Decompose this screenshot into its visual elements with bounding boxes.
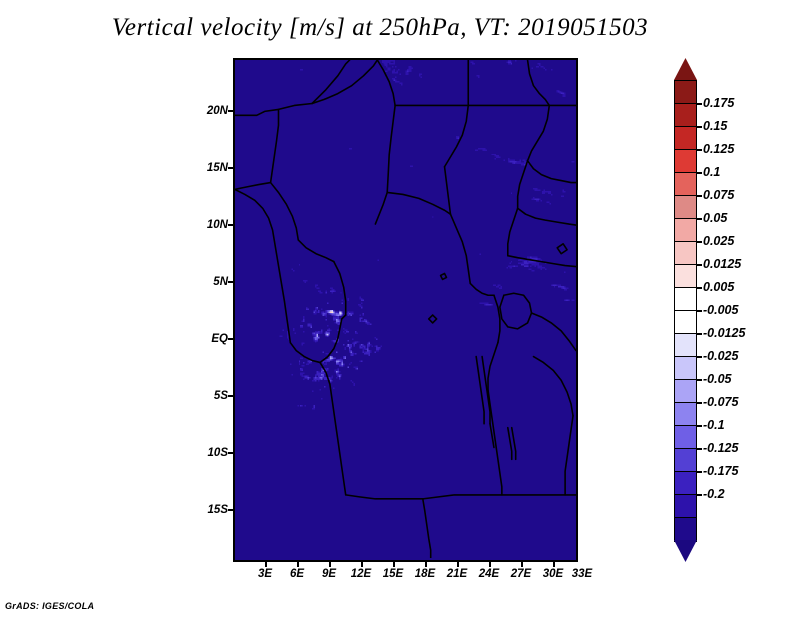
colorbar-label: -0.0125: [703, 326, 745, 340]
x-tick-mark: [361, 562, 363, 567]
colorbar-swatch: [674, 80, 697, 105]
y-tick-label: 5S: [198, 390, 228, 402]
x-tick-mark: [329, 562, 331, 567]
credit-label: GrADS: IGES/COLA: [5, 601, 94, 611]
x-tick-mark: [393, 562, 395, 567]
y-tick-label: 15N: [198, 162, 228, 174]
colorbar-tick: [697, 149, 702, 151]
y-tick-label: 10S: [198, 447, 228, 459]
colorbar-tick: [697, 333, 702, 335]
colorbar-swatch: [674, 517, 697, 542]
colorbar-swatch: [674, 425, 697, 450]
colorbar-swatch: [674, 218, 697, 243]
x-tick-mark: [297, 562, 299, 567]
colorbar-swatch: [674, 356, 697, 381]
colorbar-cap-top: [674, 58, 697, 80]
colorbar-tick: [697, 402, 702, 404]
x-tick-mark: [457, 562, 459, 567]
colorbar-label: 0.0125: [703, 257, 741, 271]
colorbar-label: -0.1: [703, 418, 725, 432]
colorbar-label: -0.175: [703, 464, 738, 478]
x-tick-label: 3E: [252, 568, 278, 580]
colorbar-tick: [697, 356, 702, 358]
colorbar-cap-bottom: [674, 540, 697, 562]
colorbar-swatch: [674, 149, 697, 174]
colorbar-label: 0.1: [703, 165, 720, 179]
y-tick-label: 5N: [198, 276, 228, 288]
colorbar-tick: [697, 425, 702, 427]
colorbar-tick: [697, 103, 702, 105]
x-tick-label: 21E: [441, 568, 473, 580]
colorbar-swatch: [674, 103, 697, 128]
colorbar-swatch: [674, 494, 697, 519]
y-tick-mark: [228, 167, 233, 169]
x-tick-label: 9E: [316, 568, 342, 580]
colorbar-label: 0.175: [703, 96, 734, 110]
colorbar-swatch: [674, 471, 697, 496]
x-tick-label: 27E: [505, 568, 537, 580]
colorbar-tick: [697, 494, 702, 496]
x-tick-mark: [425, 562, 427, 567]
x-tick-label: 15E: [377, 568, 409, 580]
colorbar-swatch: [674, 172, 697, 197]
colorbar-tick: [697, 310, 702, 312]
map-plot-area: [233, 58, 578, 562]
colorbar-label: -0.05: [703, 372, 732, 386]
colorbar-label: 0.075: [703, 188, 734, 202]
y-tick-mark: [228, 281, 233, 283]
colorbar-tick: [697, 241, 702, 243]
colorbar: 0.1750.150.1250.10.0750.050.0250.01250.0…: [674, 58, 794, 563]
colorbar-label: -0.2: [703, 487, 725, 501]
x-tick-mark: [265, 562, 267, 567]
country-borders-overlay: [235, 60, 576, 558]
colorbar-swatch: [674, 402, 697, 427]
colorbar-tick: [697, 448, 702, 450]
x-tick-mark: [553, 562, 555, 567]
colorbar-label: -0.025: [703, 349, 738, 363]
y-tick-mark: [228, 110, 233, 112]
colorbar-label: 0.125: [703, 142, 734, 156]
colorbar-swatch: [674, 333, 697, 358]
colorbar-tick: [697, 218, 702, 220]
y-tick-label: 15S: [198, 504, 228, 516]
x-tick-mark: [521, 562, 523, 567]
y-tick-mark: [228, 338, 233, 340]
y-tick-mark: [228, 509, 233, 511]
x-tick-label: 33E: [566, 568, 598, 580]
colorbar-swatch: [674, 448, 697, 473]
y-tick-mark: [228, 452, 233, 454]
colorbar-tick: [697, 264, 702, 266]
colorbar-label: 0.15: [703, 119, 727, 133]
x-tick-label: 30E: [537, 568, 569, 580]
y-tick-mark: [228, 224, 233, 226]
colorbar-label: -0.125: [703, 441, 738, 455]
colorbar-label: -0.005: [703, 303, 738, 317]
colorbar-swatch: [674, 264, 697, 289]
page-title: Vertical velocity [m/s] at 250hPa, VT: 2…: [0, 14, 760, 42]
y-tick-label: 20N: [198, 105, 228, 117]
y-tick-mark: [228, 395, 233, 397]
x-tick-label: 12E: [345, 568, 377, 580]
colorbar-tick: [697, 287, 702, 289]
colorbar-swatch: [674, 379, 697, 404]
x-tick-label: 6E: [284, 568, 310, 580]
colorbar-tick: [697, 172, 702, 174]
colorbar-swatch: [674, 241, 697, 266]
colorbar-swatch: [674, 126, 697, 151]
colorbar-swatch: [674, 195, 697, 220]
y-tick-label: 10N: [198, 219, 228, 231]
colorbar-label: -0.075: [703, 395, 738, 409]
x-tick-label: 24E: [473, 568, 505, 580]
x-tick-mark: [489, 562, 491, 567]
colorbar-label: 0.005: [703, 280, 734, 294]
colorbar-label: 0.05: [703, 211, 727, 225]
x-tick-label: 18E: [409, 568, 441, 580]
colorbar-tick: [697, 195, 702, 197]
colorbar-tick: [697, 379, 702, 381]
y-tick-label: EQ: [198, 333, 228, 345]
colorbar-swatch: [674, 310, 697, 335]
colorbar-tick: [697, 471, 702, 473]
colorbar-label: 0.025: [703, 234, 734, 248]
colorbar-swatch: [674, 287, 697, 312]
colorbar-tick: [697, 126, 702, 128]
